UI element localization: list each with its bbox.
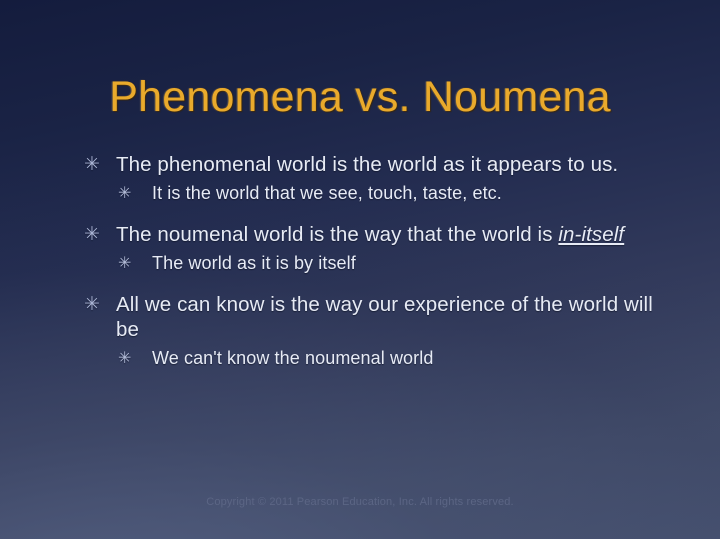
copyright-notice: Copyright © 2011 Pearson Education, Inc.…: [0, 496, 720, 508]
bullet-group-1: ✳ The phenomenal world is the world as i…: [84, 152, 674, 205]
bullet-text: The world as it is by itself: [152, 253, 356, 273]
bullet-group-3: ✳ All we can know is the way our experie…: [84, 292, 674, 370]
bullet-item-level1: ✳The noumenal world is the way that the …: [84, 222, 674, 247]
bullet-text: The noumenal world is the way that the w…: [116, 223, 558, 246]
asterisk-bullet-icon: ✳: [118, 347, 132, 370]
slide-title: Phenomena vs. Noumena: [0, 73, 720, 122]
bullet-text: The phenomenal world is the world as it …: [116, 153, 618, 176]
bullet-item-level2: ✳ We can't know the noumenal world: [118, 347, 674, 370]
presentation-slide: Phenomena vs. Noumena ✳ The phenomenal w…: [0, 0, 720, 539]
bullet-item-level2: ✳ The world as it is by itself: [118, 252, 674, 275]
asterisk-bullet-icon: ✳: [84, 152, 100, 177]
slide-body-content: ✳ The phenomenal world is the world as i…: [84, 152, 674, 384]
bullet-text: We can't know the noumenal world: [152, 348, 433, 368]
asterisk-bullet-icon: ✳: [84, 292, 100, 317]
bullet-text: It is the world that we see, touch, tast…: [152, 183, 502, 203]
asterisk-bullet-icon: ✳: [118, 182, 132, 205]
bullet-item-level2: ✳ It is the world that we see, touch, ta…: [118, 182, 674, 205]
bullet-text: All we can know is the way our experienc…: [116, 293, 653, 341]
bullet-item-level1: ✳ The phenomenal world is the world as i…: [84, 152, 674, 177]
asterisk-bullet-icon: ✳: [118, 252, 132, 275]
bullet-text-emphasis: in-itself: [558, 223, 624, 246]
bullet-item-level1: ✳ All we can know is the way our experie…: [84, 292, 674, 342]
bullet-group-2: ✳The noumenal world is the way that the …: [84, 222, 674, 275]
asterisk-bullet-icon: ✳: [84, 222, 100, 247]
